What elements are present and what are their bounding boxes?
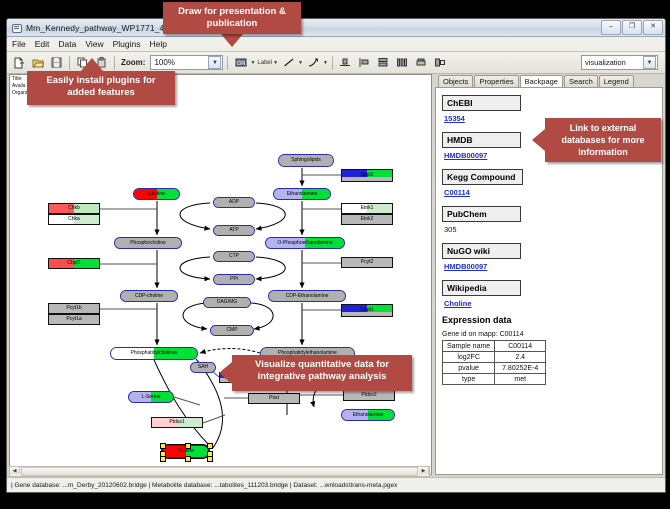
node-label: Chpt1 <box>67 261 80 266</box>
node-label: Choline <box>148 192 165 197</box>
gene-node-pisd[interactable]: Pisd <box>248 393 300 404</box>
node-label: CTP <box>229 254 239 259</box>
node-label: Ptdss1 <box>169 420 184 425</box>
datanode-dropdown[interactable]: GN ▼ <box>232 54 255 71</box>
table-cell-value: C00114 <box>495 341 546 352</box>
expression-data-title: Expression data <box>442 315 656 325</box>
gene-node-etnk2[interactable]: Etnk2 <box>341 214 393 225</box>
tab-legend[interactable]: Legend <box>599 75 634 87</box>
backpage-value-pubchem: 305 <box>444 225 656 234</box>
gene-node-chka[interactable]: Chka <box>48 214 100 225</box>
minimize-button[interactable]: – <box>601 20 621 35</box>
maximize-button[interactable]: ❐ <box>622 20 642 35</box>
gene-node-chpt1[interactable]: Chpt1 <box>48 258 100 269</box>
zoom-label: Zoom: <box>121 58 145 67</box>
selection-handle-6[interactable] <box>185 456 191 462</box>
backpage-header-chebi: ChEBI <box>442 95 521 111</box>
chevron-down-icon[interactable]: ▼ <box>323 60 328 66</box>
metabolite-node-atp[interactable]: ATP <box>213 225 255 236</box>
menu-plugins[interactable]: Plugins <box>113 39 141 49</box>
stack-vertical-icon[interactable] <box>375 54 392 71</box>
distribute-icon[interactable] <box>394 54 411 71</box>
gene-node-etnk1[interactable]: Etnk1 <box>341 203 393 214</box>
table-cell-value: 2.4 <box>495 352 546 363</box>
zoom-value: 100% <box>154 58 174 67</box>
node-label: ADP <box>229 200 239 205</box>
status-text: | Gene database: ...m_Derby_20120602.bri… <box>11 482 397 489</box>
line-dropdown[interactable]: ▼ <box>280 54 303 71</box>
backpage-header-kegg-compound: Kegg Compound <box>442 169 523 185</box>
tab-properties[interactable]: Properties <box>474 75 518 87</box>
node-label: Pisd <box>269 396 279 401</box>
backpage-link-wikipedia[interactable]: Choline <box>444 299 656 308</box>
interaction-dropdown[interactable]: ▼ <box>305 54 328 71</box>
chevron-down-icon[interactable]: ▼ <box>250 60 255 66</box>
node-label: Phosphocholine <box>130 241 166 246</box>
expression-table: Sample nameC00114log2FC2.4pvalue7.80252E… <box>442 340 546 385</box>
metabolite-node-cdp-choline[interactable]: CDP-choline <box>120 290 178 302</box>
callout-draw: Draw for presentation & publication <box>163 2 301 34</box>
callout-visualize: Visualize quantitative data for integrat… <box>232 355 412 391</box>
backpage-header-hmdb: HMDB <box>442 132 521 148</box>
table-cell-key: log2FC <box>443 352 495 363</box>
node-label: Ptdss2 <box>361 393 376 398</box>
selection-handle-7[interactable] <box>207 456 213 462</box>
toolbar-separator <box>69 56 70 70</box>
order-icon[interactable] <box>432 54 449 71</box>
callout-links: Link to external databases for more info… <box>545 118 661 162</box>
table-cell-value: 7.80252E-4 <box>495 363 546 374</box>
backpage-header-nugo-wiki: NuGO wiki <box>442 243 521 259</box>
datanode-icon[interactable]: GN <box>232 54 249 71</box>
backpage-link-nugo-wiki[interactable]: HMDB00097 <box>444 262 656 271</box>
node-label: CMP <box>226 328 237 333</box>
node-label: DAG/MG <box>217 300 237 305</box>
table-cell-key: type <box>443 374 495 385</box>
scroll-left-icon[interactable]: ◀ <box>10 467 20 474</box>
open-file-icon[interactable] <box>29 54 46 71</box>
align-top-icon[interactable] <box>337 54 354 71</box>
menu-data[interactable]: Data <box>58 39 76 49</box>
new-file-icon[interactable] <box>10 54 27 71</box>
node-label: Choline <box>177 449 194 454</box>
side-tabs: Objects Properties Backpage Search Legen… <box>435 74 663 87</box>
table-row: pvalue7.80252E-4 <box>443 363 546 374</box>
align-left-icon[interactable] <box>356 54 373 71</box>
chevron-down-icon[interactable]: ▼ <box>273 60 278 66</box>
node-label: L-Serine <box>142 395 161 400</box>
metabolite-node-o-phosphoethanolamine[interactable]: O-Phosphoethanolamine <box>265 237 345 249</box>
node-label: SAH <box>198 365 208 370</box>
table-cell-key: Sample name <box>443 341 495 352</box>
table-row: log2FC2.4 <box>443 352 546 363</box>
tab-objects[interactable]: Objects <box>438 75 473 87</box>
visualization-value: visualization <box>585 58 626 67</box>
node-label: CDP-choline <box>135 294 163 299</box>
gene-id-label: Gene id on mapp: C00114 <box>442 331 656 338</box>
node-label: Ethanolamine <box>287 192 318 197</box>
metabolite-node-cmp[interactable]: CMP <box>210 325 254 336</box>
selection-handle-1[interactable] <box>185 443 191 449</box>
table-cell-key: pvalue <box>443 363 495 374</box>
callout-plugins-arrow <box>81 58 103 71</box>
selection-handle-5[interactable] <box>160 456 166 462</box>
callout-plugins: Easily install plugins for added feature… <box>27 71 175 105</box>
backpage-header-wikipedia: Wikipedia <box>442 280 521 296</box>
backpage-link-kegg-compound[interactable]: C00114 <box>444 188 656 197</box>
metabolite-node-phosphocholine[interactable]: Phosphocholine <box>114 237 182 249</box>
gene-node-sgpl1[interactable]: Sgpl1 <box>341 169 393 182</box>
metabolite-node-choline[interactable]: Choline <box>162 445 209 458</box>
canvas-hscrollbar[interactable]: ◀ ▶ <box>9 466 430 477</box>
close-button[interactable]: ✕ <box>643 20 663 35</box>
metabolite-node-ethanolamine[interactable]: Ethanolamine <box>341 409 395 421</box>
menu-help[interactable]: Help <box>150 39 167 49</box>
selection-handle-0[interactable] <box>160 443 166 449</box>
node-label: Ethanolamine <box>353 413 384 418</box>
menu-bar: File Edit Data View Plugins Help <box>7 37 665 52</box>
line-icon[interactable] <box>280 54 297 71</box>
menu-view[interactable]: View <box>85 39 103 49</box>
metabolite-node-sah[interactable]: SAH <box>190 362 216 373</box>
metabolite-node-ethanolamine[interactable]: Ethanolamine <box>273 188 331 200</box>
node-label: Pcyt1b <box>66 306 81 311</box>
title-bar: Mm_Kennedy_pathway_WP1771_45176.gpml – ❐… <box>7 19 665 37</box>
gene-node-pcyt1a[interactable]: Pcyt1a <box>48 314 100 325</box>
callout-draw-arrow <box>221 34 243 47</box>
metabolite-node-dag-mg[interactable]: DAG/MG <box>203 297 251 308</box>
visualization-combobox[interactable]: visualization ▼ <box>581 55 658 70</box>
label-tool-text: Label <box>257 60 272 66</box>
screenshot-root: Mm_Kennedy_pathway_WP1771_45176.gpml – ❐… <box>0 0 670 509</box>
save-file-icon[interactable] <box>48 54 65 71</box>
scroll-thumb[interactable] <box>21 467 418 476</box>
gene-node-chkb[interactable]: Chkb <box>48 203 100 214</box>
menu-edit[interactable]: Edit <box>35 39 50 49</box>
metabolite-node-ppi[interactable]: PPi <box>213 274 255 285</box>
metabolite-node-sphingolipids[interactable]: Sphingolipids <box>278 154 334 167</box>
gene-node-cept1[interactable]: Cept1 <box>341 304 393 317</box>
zoom-combobox[interactable]: 100% ▼ <box>150 55 223 70</box>
gene-node-ptdss1[interactable]: Ptdss1 <box>151 417 203 428</box>
gene-node-pcyt2[interactable]: Pcyt2 <box>341 257 393 268</box>
node-label: Cept1 <box>360 308 373 313</box>
table-cell-value: met <box>495 374 546 385</box>
interaction-icon[interactable] <box>305 54 322 71</box>
toolbar-separator-2 <box>114 56 115 70</box>
node-label: Pcyt1a <box>66 317 81 322</box>
scroll-right-icon[interactable]: ▶ <box>419 467 429 474</box>
backpage-header-pubchem: PubChem <box>442 206 521 222</box>
status-bar: | Gene database: ...m_Derby_20120602.bri… <box>7 477 665 492</box>
gene-node-pcyt1b[interactable]: Pcyt1b <box>48 303 100 314</box>
node-label: Pcyt2 <box>361 260 374 265</box>
table-row: Sample nameC00114 <box>443 341 546 352</box>
metabolite-node-cdp-ethanolamine[interactable]: CDP-Ethanolamine <box>268 290 346 302</box>
node-label: Etnk1 <box>361 206 374 211</box>
node-label: PPi <box>230 277 238 282</box>
metabolite-node-ctp[interactable]: CTP <box>213 251 255 262</box>
gene-node-ptdss2[interactable]: Ptdss2 <box>343 390 395 401</box>
callout-visualize-arrow <box>219 362 232 384</box>
metabolite-node-choline[interactable]: Choline <box>133 188 180 200</box>
label-dropdown[interactable]: Label ▼ <box>257 60 278 66</box>
pathway-canvas[interactable]: Title: Availa Organi <box>9 74 432 475</box>
metabolite-node-adp[interactable]: ADP <box>213 197 255 208</box>
node-label: Etnk2 <box>361 217 374 222</box>
chevron-down-icon[interactable]: ▼ <box>298 60 303 66</box>
toolbar-separator-3 <box>227 56 228 70</box>
node-label: O-Phosphoethanolamine <box>277 241 332 246</box>
node-label: CDP-Ethanolamine <box>286 294 329 299</box>
chevron-down-icon[interactable]: ▼ <box>643 56 656 69</box>
node-label: Chka <box>68 217 80 222</box>
application-icon <box>11 22 22 33</box>
toolbar-separator-4 <box>332 56 333 70</box>
chevron-down-icon[interactable]: ▼ <box>208 56 221 69</box>
node-label: ATP <box>229 228 238 233</box>
tab-search[interactable]: Search <box>564 75 598 87</box>
group-icon[interactable] <box>413 54 430 71</box>
svg-text:GN: GN <box>236 61 245 67</box>
metabolite-node-phosphatidylcholines[interactable]: Phosphatidylcholines <box>110 347 198 360</box>
node-label: Chkb <box>68 206 80 211</box>
node-label: Phosphatidylcholines <box>131 351 178 356</box>
selection-handle-2[interactable] <box>207 443 213 449</box>
window-controls: – ❐ ✕ <box>601 20 665 35</box>
node-label: Sgpl1 <box>361 173 374 178</box>
metabolite-node-l-serine[interactable]: L-Serine <box>128 391 174 403</box>
node-label: Sphingolipids <box>291 158 321 163</box>
menu-file[interactable]: File <box>12 39 26 49</box>
callout-links-arrow <box>532 129 545 151</box>
table-row: typemet <box>443 374 546 385</box>
